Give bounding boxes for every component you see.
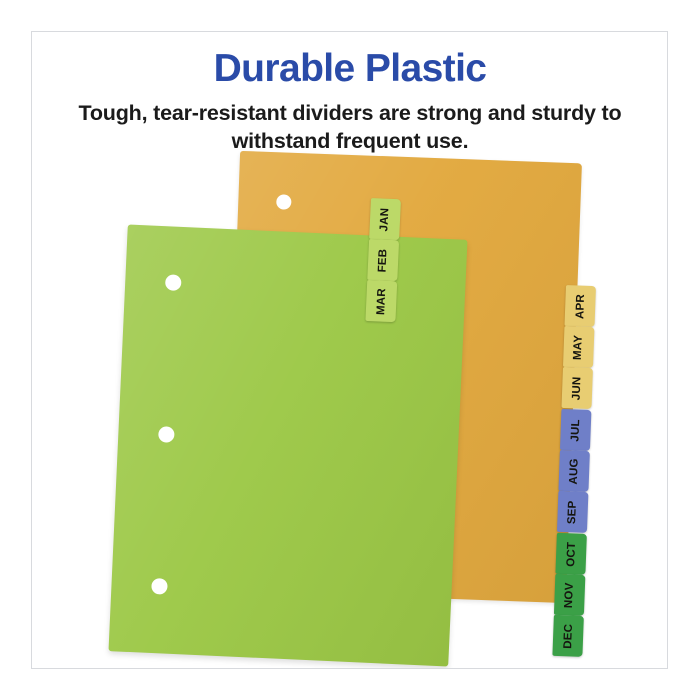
tab-label: APR <box>574 293 587 318</box>
tab-oct[interactable]: OCT <box>555 533 586 575</box>
product-image-card: Durable Plastic Tough, tear-resistant di… <box>0 0 700 700</box>
tab-nov[interactable]: NOV <box>554 574 585 616</box>
punch-hole <box>276 194 292 210</box>
punch-hole <box>158 426 175 443</box>
tab-label: DEC <box>562 623 575 648</box>
tab-label: SEP <box>566 500 579 524</box>
tab-label: MAY <box>572 334 585 360</box>
tab-apr[interactable]: APR <box>564 285 595 327</box>
tab-jun[interactable]: JUN <box>561 367 592 409</box>
tab-feb[interactable]: FEB <box>367 239 399 281</box>
tab-label: AUG <box>568 458 581 485</box>
tab-label: JUN <box>571 376 584 400</box>
tab-label: JAN <box>379 207 392 231</box>
tab-label: OCT <box>565 541 578 566</box>
product-photo: APR MAY JUN JUL AUG SEP OCT NOV DEC JAN … <box>32 150 668 668</box>
tab-column-left: JAN FEB MAR <box>365 198 401 323</box>
tab-mar[interactable]: MAR <box>365 280 397 322</box>
tab-sep[interactable]: SEP <box>557 491 588 533</box>
punch-hole <box>165 274 182 291</box>
tab-jan[interactable]: JAN <box>369 198 401 240</box>
tab-label: FEB <box>377 248 390 272</box>
tab-aug[interactable]: AUG <box>558 450 589 492</box>
page-title: Durable Plastic <box>0 49 700 90</box>
tab-label: MAR <box>375 287 388 314</box>
divider-sheet-green <box>108 225 467 667</box>
tab-may[interactable]: MAY <box>563 326 594 368</box>
tab-label: NOV <box>563 582 576 608</box>
punch-hole <box>151 578 168 595</box>
tab-dec[interactable]: DEC <box>552 615 583 657</box>
tab-label: JUL <box>569 419 582 442</box>
tab-jul[interactable]: JUL <box>560 409 591 451</box>
page-subtitle: Tough, tear-resistant dividers are stron… <box>60 99 640 156</box>
